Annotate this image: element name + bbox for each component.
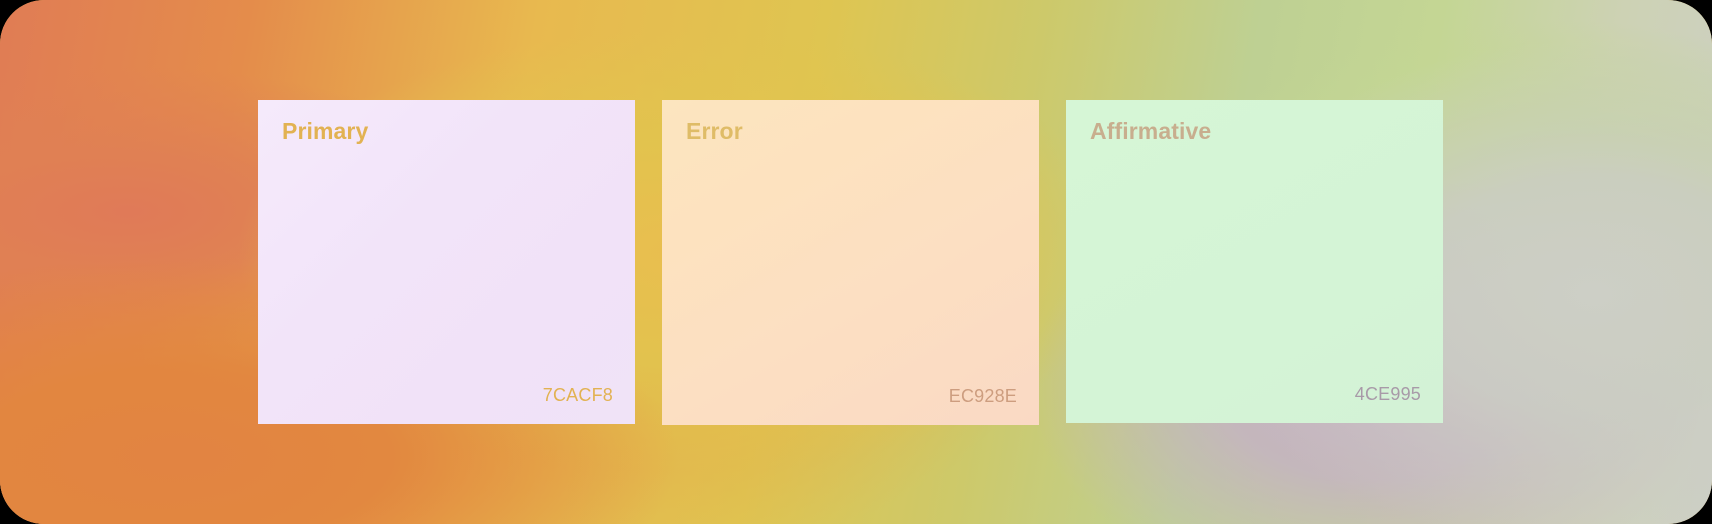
card-hex-value: 7CACF8 [543, 385, 613, 406]
card-title: Affirmative [1090, 118, 1211, 145]
card-title: Primary [282, 118, 368, 145]
screenshot-stage: Primary 7CACF8 Error EC928E Affirmative … [0, 0, 1712, 524]
card-hex-value: 4CE995 [1355, 384, 1421, 405]
color-swatch-card-primary[interactable]: Primary 7CACF8 [258, 100, 635, 424]
color-swatch-card-affirmative[interactable]: Affirmative 4CE995 [1066, 100, 1443, 423]
color-swatch-card-error[interactable]: Error EC928E [662, 100, 1039, 425]
gradient-backdrop: Primary 7CACF8 Error EC928E Affirmative … [0, 0, 1712, 524]
card-hex-value: EC928E [949, 386, 1017, 407]
card-title: Error [686, 118, 743, 145]
